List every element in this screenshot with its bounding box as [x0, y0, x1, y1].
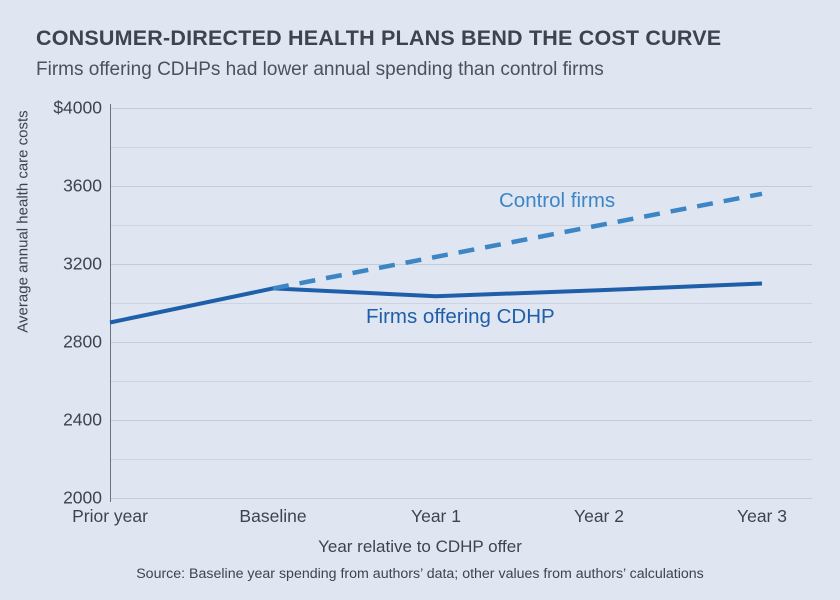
chart-root: CONSUMER-DIRECTED HEALTH PLANS BEND THE …: [0, 0, 840, 600]
x-axis-tick-label: Prior year: [72, 506, 148, 527]
plot-area: [110, 108, 812, 498]
y-axis-title: Average annual health care costs: [15, 107, 32, 337]
x-axis-tick-labels: Prior yearBaselineYear 1Year 2Year 3: [0, 506, 840, 532]
gridline-minor: [110, 459, 812, 460]
gridline-major: [110, 186, 812, 187]
gridline-major: [110, 420, 812, 421]
gridline-major: [110, 342, 812, 343]
gridline-minor: [110, 225, 812, 226]
y-axis-tick-label: 2400: [10, 410, 102, 431]
series-label-cdhp-firms: Firms offering CDHP: [366, 305, 555, 329]
x-axis-tick-label: Baseline: [239, 506, 306, 527]
gridline-minor: [110, 381, 812, 382]
series-label-control-firms: Control firms: [499, 189, 615, 213]
y-axis-line: [110, 104, 111, 502]
gridline-major: [110, 264, 812, 265]
gridline-minor: [110, 147, 812, 148]
x-axis-tick-label: Year 1: [411, 506, 461, 527]
x-axis-title: Year relative to CDHP offer: [0, 537, 840, 557]
source-note: Source: Baseline year spending from auth…: [0, 566, 840, 582]
page-title: CONSUMER-DIRECTED HEALTH PLANS BEND THE …: [36, 26, 721, 51]
x-axis-tick-label: Year 2: [574, 506, 624, 527]
gridline-major: [110, 498, 812, 499]
x-axis-tick-label: Year 3: [737, 506, 787, 527]
gridline-minor: [110, 303, 812, 304]
gridline-major: [110, 108, 812, 109]
chart-subtitle: Firms offering CDHPs had lower annual sp…: [36, 59, 604, 81]
